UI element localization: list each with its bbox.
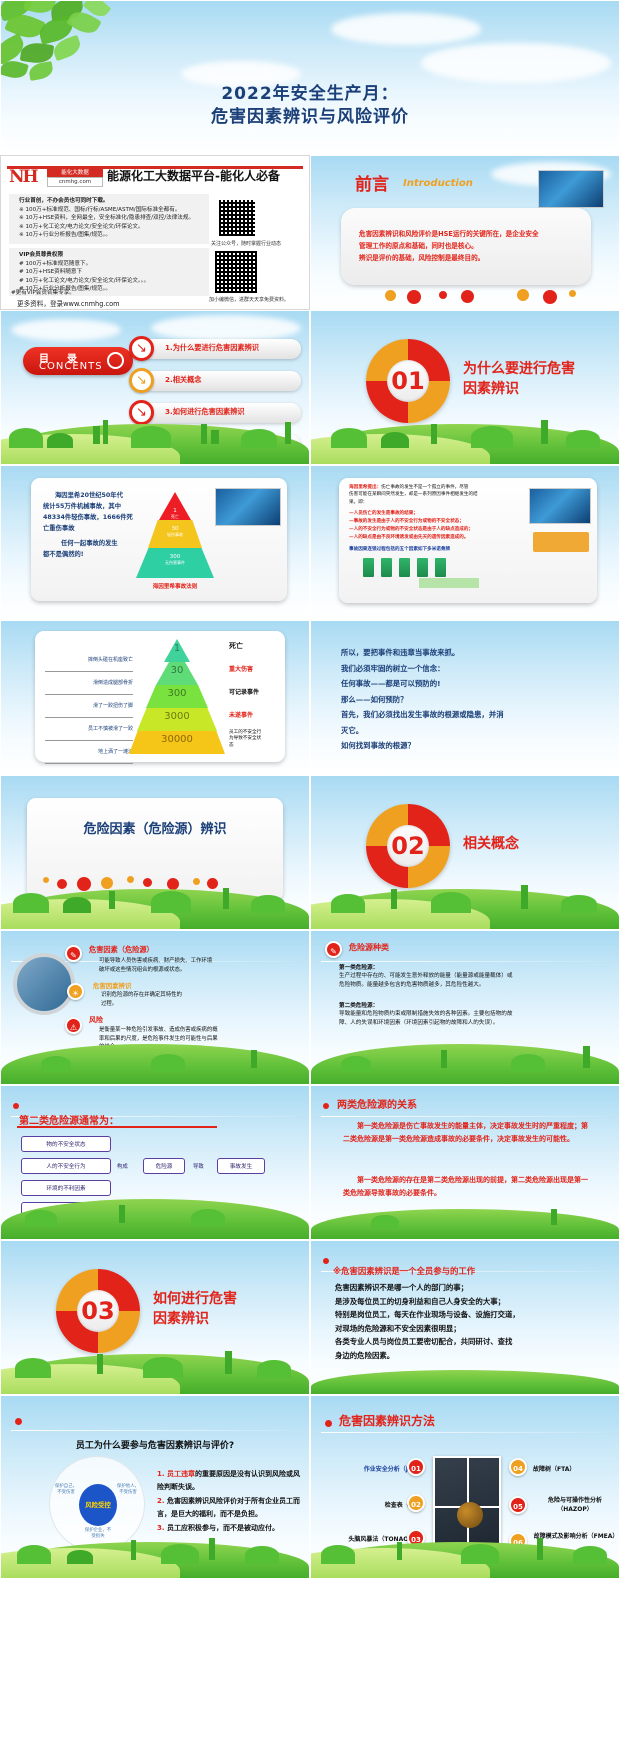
toc-item-2[interactable]: ↘ 2.相关概念 bbox=[141, 371, 301, 391]
para-line: 统计55万件机械事故，其中 bbox=[43, 501, 135, 512]
preface-line: 危害因素辨识和风险评价是HSE运行的关键所在，是企业安全 bbox=[359, 228, 579, 240]
qr-code-public-account[interactable] bbox=[219, 200, 255, 236]
ad-headline: 能源化工大数据平台-能化人必备 bbox=[107, 167, 280, 184]
ad-footer-2: 更多资料，登录www.cnmhg.com bbox=[17, 298, 120, 308]
deck-row-5: 摔倒头碰在机座致亡 滑倒造成腿部骨折 滑了一跤扭伤了脚 员工不慎被滑了一跤 地上… bbox=[0, 620, 620, 775]
line: 危险物质。能量越多包含的危害物质越多，其危险性越大。 bbox=[339, 981, 601, 990]
section-number: 01 bbox=[366, 339, 450, 423]
domino-tile bbox=[435, 558, 446, 577]
slide-identification-methods[interactable]: 危害因素辨识方法 作业安全分析（JSA） 01 检查表（CL） 02 头脑风暴法… bbox=[310, 1395, 620, 1579]
slide-hazard-identification-card[interactable]: 危险因素（危险源）辨识 bbox=[0, 775, 310, 930]
header-divider bbox=[321, 1432, 605, 1433]
deck-row-10: 员工为什么要参与危害因素辨识与评价? 风险受控 保护自己，不受伤害 保护他人，不… bbox=[0, 1395, 620, 1579]
domino-lead: 海因里希提出：伤亡事故的发生不是一个孤立的事件，尽管 伤害可能在某瞬间突然发生，… bbox=[349, 484, 509, 506]
cloud-shape bbox=[331, 13, 481, 45]
lead-rest: 伤亡事故的发生不是一个孤立的事件，尽管 bbox=[381, 485, 468, 490]
slide-heinrich-domino[interactable]: 海因里希提出：伤亡事故的发生不是一个孤立的事件，尽管 伤害可能在某瞬间突然发生，… bbox=[310, 465, 620, 620]
cnmhg-logo-tags: 能化大数据 cnmhg.com bbox=[47, 167, 103, 187]
para-line: 亡重伤事故 bbox=[43, 523, 135, 534]
why-prevent-text: 所以，要把事件和违章当事故来抓。 我们必须牢固的树立一个信念： 任何事故——都是… bbox=[341, 645, 591, 754]
relation-para-1: 第一类危险源是伤亡事故发生的能量主体，决定事故发生时的严重程度；第二类危险源是第… bbox=[343, 1120, 593, 1146]
header-divider bbox=[321, 961, 605, 962]
left-label: 摔倒头碰在机座致亡 bbox=[45, 649, 133, 672]
deck-row-6: 危险因素（危险源）辨识 bbox=[0, 775, 620, 930]
right-label: 死亡 bbox=[229, 641, 291, 664]
qr1-caption: 关注公众号，随时掌握行业动态 bbox=[211, 240, 281, 247]
bullet: —人的不安全行为或物的不安全状态是由于人的缺点造成的； bbox=[349, 526, 519, 534]
arrow-down-icon: ↘ bbox=[129, 368, 154, 393]
ad-block2-item: # 10万+化工论文/电力论文/安全论文/环保论文。。。 bbox=[19, 277, 211, 286]
group2-title: 第二类危险源： bbox=[339, 1001, 378, 1009]
landscape-decoration bbox=[311, 1532, 619, 1578]
landscape-decoration bbox=[1, 1342, 309, 1394]
slide-deck-preview: 2022年安全生产月： 危害因素辨识与风险评价 NH 能化大数据 cnmhg.c… bbox=[0, 0, 620, 1579]
title-line-1: 2022年安全生产月： bbox=[1, 79, 619, 104]
pyr-value: 30000 bbox=[161, 734, 193, 745]
title-bullet-dot bbox=[325, 1420, 332, 1427]
page-title: 危害因素辨识方法 bbox=[339, 1412, 435, 1429]
section-title: 为什么要进行危害 因素辨识 bbox=[463, 359, 575, 399]
petal-label-1: 保护自己，不受伤害 bbox=[53, 1484, 79, 1497]
lead-rest3: 果。即： bbox=[349, 499, 509, 506]
deck-row-2: NH 能化大数据 cnmhg.com 能源化工大数据平台-能化人必备 行业首创，… bbox=[0, 155, 620, 310]
ad-footer-1: #更有VIP会员合集专享。 bbox=[11, 289, 75, 298]
employee-points: 1. 员工违章的重要原因是没有认识到风险或风险判断失误。 2. 危害因素辨识风险… bbox=[157, 1468, 303, 1535]
left-label: 滑倒造成腿部骨折 bbox=[45, 672, 133, 695]
landscape-decoration bbox=[311, 412, 619, 464]
slide-hazard-types[interactable]: ✎ 危险源种类 第一类危险源： 生产过程中存在的、可能发生意外释放的能量（能量源… bbox=[310, 930, 620, 1085]
domino-tile bbox=[417, 558, 428, 577]
para-line: 海因里希20世纪50年代 bbox=[43, 490, 135, 501]
section-number: 03 bbox=[56, 1269, 140, 1353]
domino-tile bbox=[399, 558, 410, 577]
pyramid-caption: 海因里希事故法则 bbox=[153, 582, 198, 590]
cloud-shape bbox=[151, 315, 301, 341]
card-title: 危险因素（危险源）辨识 bbox=[1, 818, 309, 837]
pyramid-level-1: 1 死亡 bbox=[160, 508, 190, 520]
page-title: 第二类危险源通常为： bbox=[19, 1112, 119, 1127]
section-title-line1: 如何进行危害 bbox=[153, 1289, 237, 1309]
ad-block1-item: ※ 10万+HSE资料，全网最全，安全标准化/隐患排查/双控/法律法规。 bbox=[19, 214, 211, 223]
bullet: —人员伤亡的发生是事故的结果； bbox=[349, 510, 519, 518]
ad-block1-item: ※ 10万+化工论文/电力论文/安全论文/环保论文。 bbox=[19, 223, 211, 232]
dot-decoration-row bbox=[311, 277, 619, 301]
ad-block2-item: # 10万+HSE资料随意下 bbox=[19, 268, 211, 277]
safety-pyramid-graphic: 1 30 300 3000 30000 bbox=[129, 639, 225, 757]
group1-title: 第一类危险源： bbox=[339, 963, 378, 971]
slide-section-02[interactable]: 02 相关概念 bbox=[310, 775, 620, 930]
slide-image bbox=[215, 488, 281, 526]
line: 危害因素辨识不是哪一个人的部门的事； bbox=[335, 1281, 607, 1295]
edit-icon: ✎ bbox=[325, 941, 342, 958]
header-divider bbox=[321, 1116, 605, 1117]
landscape-decoration bbox=[311, 1044, 619, 1084]
concept-photo bbox=[13, 953, 75, 1015]
hand-idea-icon: ☀ bbox=[67, 983, 84, 1000]
deck-row-4: 海因里希20世纪50年代 统计55万件机械事故，其中 48334件轻伤事故，16… bbox=[0, 465, 620, 620]
line: 那么——如何预防？ bbox=[341, 692, 591, 708]
left-label: 滑了一跤扭伤了脚 bbox=[45, 695, 133, 718]
right-label: 重大伤害 bbox=[229, 664, 291, 687]
page-title: ※危害因素辨识是一个全员参与的工作 bbox=[333, 1265, 475, 1277]
ad-block1-item: ※ 10万+行业分析报告/图集/规范。。 bbox=[19, 231, 211, 240]
risk-icon: ⚠ bbox=[65, 1017, 82, 1034]
concept-body-2: 识别危险源的存在并确定其特性的 过程。 bbox=[101, 991, 301, 1008]
heinrich-paragraph-2: 任何一起事故的发生 都不是偶然的! bbox=[43, 538, 135, 560]
bullet: —事故的发生是由于人的不安全行为或物的不安全状态； bbox=[349, 518, 519, 526]
landscape-decoration bbox=[311, 1366, 619, 1394]
hazard-box: 人的不安全行为 bbox=[21, 1158, 111, 1174]
landscape-decoration bbox=[1, 1199, 309, 1239]
slide-advertisement[interactable]: NH 能化大数据 cnmhg.com 能源化工大数据平台-能化人必备 行业首创，… bbox=[0, 155, 310, 310]
title-line-2: 危害因素辨识与风险评价 bbox=[1, 102, 619, 127]
deck-row-9: 03 如何进行危害 因素辨识 ※危害因素辨识是一个全员参与的工作 bbox=[0, 1240, 620, 1395]
landscape-decoration bbox=[311, 1205, 619, 1239]
toc-ring-icon bbox=[107, 352, 124, 369]
legend-chip bbox=[533, 532, 589, 552]
page-title: 员工为什么要参与危害因素辨识与评价? bbox=[1, 1438, 309, 1451]
title-bullet-dot bbox=[15, 1418, 22, 1425]
mid-label: 构成 bbox=[117, 1162, 128, 1170]
preface-body-text: 危害因素辨识和风险评价是HSE运行的关键所在，是企业安全 管理工作的原点和基础，… bbox=[359, 228, 579, 264]
toc-item-1[interactable]: ↘ 1.为什么要进行危害因素辨识 bbox=[141, 339, 301, 359]
qr-code-wechat[interactable] bbox=[215, 251, 257, 293]
heinrich-paragraph-1: 海因里希20世纪50年代 统计55万件机械事故，其中 48334件轻伤事故，16… bbox=[43, 490, 135, 534]
leaves-decoration bbox=[0, 0, 145, 85]
slide-employee-participation[interactable]: 员工为什么要参与危害因素辨识与评价? 风险受控 保护自己，不受伤害 保护他人，不… bbox=[0, 1395, 310, 1579]
section-title: 如何进行危害 因素辨识 bbox=[153, 1289, 237, 1329]
group2-body: 导致能量和危险物质约束或限制措施失效的各种因素。主要包括物的故 障、人的失误和环… bbox=[339, 1010, 605, 1028]
toc-badge-en: CONCENTS bbox=[39, 361, 103, 372]
preface-line: 管理工作的原点和基础，同时也是核心。 bbox=[359, 240, 579, 252]
qr2-caption: 加小编微信，进群天天享免费资料。 bbox=[209, 296, 289, 303]
left-label: 地上洒了一滩油 bbox=[45, 741, 133, 764]
hazard-node: 危险源 bbox=[143, 1158, 185, 1174]
pyramid-level-3: 300 无伤害事件 bbox=[144, 554, 206, 566]
header-divider bbox=[11, 1430, 295, 1431]
landscape-decoration bbox=[1, 412, 309, 464]
preface-line: 辨识是评价的基础，风险控制是最终目的。 bbox=[359, 252, 579, 264]
concept-body-1: 可能导致人员伤害或疾病、财产损失、工作环境 破坏或这些情况组合的根源或状态。 bbox=[99, 957, 299, 974]
title-underline bbox=[17, 1126, 217, 1128]
slide-table-of-contents[interactable]: 目 录 CONCENTS ↘ 1.为什么要进行危害因素辨识 ↘ 2.相关概念 ↘… bbox=[0, 310, 310, 465]
point-2: 2. 危害因素辨识风险评价对于所有企业员工而言，是巨大的福利，而不是负担。 bbox=[157, 1495, 303, 1520]
section-title-line1: 为什么要进行危害 bbox=[463, 359, 575, 379]
concept-title-2: 危害因素辨识 bbox=[93, 981, 131, 990]
method-badge-02: 02 bbox=[407, 1494, 425, 1512]
point-1: 1. 员工违章的重要原因是没有认识到风险或风险判断失误。 bbox=[157, 1468, 303, 1493]
domino-caption-bar bbox=[419, 578, 479, 588]
bullet: —人的缺点是由不良环境诱发或由先天的遗传因素造成的。 bbox=[349, 534, 519, 542]
all-staff-body: 危害因素辨识不是哪一个人的部门的事； 是涉及每位员工的切身利益和自己人身安全的大… bbox=[335, 1281, 607, 1363]
line: 所以，要把事件和违章当事故来抓。 bbox=[341, 645, 591, 661]
cloud-shape bbox=[11, 319, 121, 341]
para-line: 48334件轻伤事故，1666件死 bbox=[43, 512, 135, 523]
arrow-down-icon: ↘ bbox=[129, 336, 154, 361]
line: 障、人的失误和环境因素（环境因素引起物的故障和人的失误）。 bbox=[339, 1019, 605, 1028]
para-line: 都不是偶然的! bbox=[43, 549, 135, 560]
toc-item-label: 2.相关概念 bbox=[165, 375, 201, 385]
logo-tag-top: 能化大数据 bbox=[47, 167, 103, 177]
section-title-line1: 相关概念 bbox=[463, 834, 519, 854]
relation-para-2: 第一类危险源的存在是第二类危险源出现的前提，第二类危险源出现是第一类危险源导致事… bbox=[343, 1174, 593, 1200]
preface-subtitle: Introduction bbox=[403, 178, 473, 189]
left-label: 员工不慎被滑了一跤 bbox=[45, 718, 133, 741]
deck-row-3: 目 录 CONCENTS ↘ 1.为什么要进行危害因素辨识 ↘ 2.相关概念 ↘… bbox=[0, 310, 620, 465]
lead-rest2: 伤害可能在某瞬间突然发生，却是一系列原因事件相继发生的结 bbox=[349, 491, 509, 498]
cnmhg-logo: NH bbox=[9, 167, 51, 187]
domino-tile bbox=[381, 558, 392, 577]
slide-section-03[interactable]: 03 如何进行危害 因素辨识 bbox=[0, 1240, 310, 1395]
line: 识别危险源的存在并确定其特性的 bbox=[101, 991, 301, 1000]
line: 任何事故——都是可以预防的! bbox=[341, 676, 591, 692]
line: 灭它。 bbox=[341, 723, 591, 739]
pyramid-left-labels: 摔倒头碰在机座致亡 滑倒造成腿部骨折 滑了一跤扭伤了脚 员工不慎被滑了一跤 地上… bbox=[45, 649, 133, 764]
hazard-box: 物的不安全状态 bbox=[21, 1136, 111, 1152]
slide-safety-pyramid[interactable]: 摔倒头碰在机座致亡 滑倒造成腿部骨折 滑了一跤扭伤了脚 员工不慎被滑了一跤 地上… bbox=[0, 620, 310, 775]
slide-title[interactable]: 2022年安全生产月： 危害因素辨识与风险评价 bbox=[0, 0, 620, 155]
ad-block1-title: 行业首创，不办会员也可同时下载。 bbox=[19, 197, 211, 206]
pyr-value: 1 bbox=[174, 643, 180, 654]
right-label: 员工的不安全行为导致不安全状态 bbox=[229, 730, 263, 749]
line: 身边的危险因素。 bbox=[335, 1349, 607, 1363]
diagram-center-label: 风险受控 bbox=[79, 1484, 117, 1526]
toc-badge: 目 录 CONCENTS bbox=[23, 347, 133, 375]
slide-section-01[interactable]: 01 为什么要进行危害 因素辨识 bbox=[310, 310, 620, 465]
para-line: 任何一起事故的发生 bbox=[43, 538, 135, 549]
slide-all-staff-participation[interactable]: ※危害因素辨识是一个全员参与的工作 危害因素辨识不是哪一个人的部门的事； 是涉及… bbox=[310, 1240, 620, 1395]
ad-block1-item: ※ 100万+标准规范、国标/行标/ASME/ASTM/国际标准全都有。 bbox=[19, 206, 211, 215]
right-label: 未遂事件 bbox=[229, 710, 291, 730]
line: 如何找到事故的根源？ bbox=[341, 738, 591, 754]
method-label-05: 危险与可操作性分析（HAZOP） bbox=[533, 1496, 617, 1514]
slide-why-prevent[interactable]: 所以，要把事件和违章当事故来抓。 我们必须牢固的树立一个信念： 任何事故——都是… bbox=[310, 620, 620, 775]
line: 过程。 bbox=[101, 1000, 301, 1009]
line: 破坏或这些情况组合的根源或状态。 bbox=[99, 966, 299, 975]
landscape-decoration bbox=[1, 1532, 309, 1578]
slide-concepts[interactable]: ✎ 危害因素（危险源） 可能导致人员伤害或疾病、财产损失、工作环境 破坏或这些情… bbox=[0, 930, 310, 1085]
deck-row-7: ✎ 危害因素（危险源） 可能导致人员伤害或疾病、财产损失、工作环境 破坏或这些情… bbox=[0, 930, 620, 1085]
line: 生产过程中存在的、可能发生意外释放的能量（能量源或能量载体）或 bbox=[339, 972, 601, 981]
section-number: 02 bbox=[366, 804, 450, 888]
page-title: 危险源种类 bbox=[349, 942, 389, 953]
slide-preface[interactable]: 前言 Introduction 危害因素辨识和风险评价是HSE运行的关键所在，是… bbox=[310, 155, 620, 310]
slide-second-hazard-source[interactable]: 第二类危险源通常为： 物的不安全状态 人的不安全行为 环境的不利因素 管理的薄弱… bbox=[0, 1085, 310, 1240]
section-title-line2: 因素辨识 bbox=[153, 1309, 237, 1329]
toc-item-label: 1.为什么要进行危害因素辨识 bbox=[165, 343, 259, 353]
section-title: 相关概念 bbox=[463, 834, 519, 854]
method-label-04: 故障树（FTA） bbox=[533, 1464, 617, 1473]
slide-heinrich-statistics[interactable]: 海因里希20世纪50年代 统计55万件机械事故，其中 48334件轻伤事故，16… bbox=[0, 465, 310, 620]
preface-title: 前言 bbox=[355, 170, 389, 195]
method-badge-01: 01 bbox=[407, 1458, 425, 1476]
line: 对现场的危险源和不安全因素很明显； bbox=[335, 1322, 607, 1336]
method-badge-05: 05 bbox=[509, 1496, 527, 1514]
domino-bullets: —人员伤亡的发生是事故的结果； —事故的发生是由于人的不安全行为或物的不安全状态… bbox=[349, 510, 519, 542]
domino-footer: 事故因果连锁过程包括的五个因素如下多米诺骨牌 bbox=[349, 546, 450, 552]
preface-image bbox=[538, 170, 604, 208]
right-label: 可记录事件 bbox=[229, 687, 291, 710]
logo-tag-bottom: cnmhg.com bbox=[47, 177, 103, 187]
section-title-line2: 因素辨识 bbox=[463, 379, 575, 399]
ad-block2-title: VIP会员尊贵权限 bbox=[19, 251, 211, 260]
line: 我们必须牢固的树立一个信念： bbox=[341, 661, 591, 677]
deck-row-8: 第二类危险源通常为： 物的不安全状态 人的不安全行为 环境的不利因素 管理的薄弱… bbox=[0, 1085, 620, 1240]
deck-row-1: 2022年安全生产月： 危害因素辨识与风险评价 bbox=[0, 0, 620, 155]
ad-block2-item: # 100万+标准规范随意下。 bbox=[19, 260, 211, 269]
hazard-box: 环境的不利因素 bbox=[21, 1180, 111, 1196]
title-bullet-dot bbox=[13, 1103, 19, 1109]
line: 是衡量某一种危险引发事故、造成伤害或疾病的概 bbox=[99, 1026, 299, 1035]
method-badge-04: 04 bbox=[509, 1458, 527, 1476]
landscape-decoration bbox=[1, 1044, 309, 1084]
pyramid-level-2: 30 轻伤事故 bbox=[153, 526, 197, 538]
title-bullet-dot bbox=[323, 1103, 329, 1109]
concept-title-3: 风险 bbox=[89, 1015, 103, 1025]
domino-tile bbox=[363, 558, 374, 577]
slide-hazard-relation[interactable]: 两类危险源的关系 第一类危险源是伤亡事故发生的能量主体，决定事故发生时的严重程度… bbox=[310, 1085, 620, 1240]
arrow-label: 导致 bbox=[193, 1162, 204, 1170]
heinrich-pyramid: 1 死亡 30 轻伤事故 300 无伤害事件 海因里希事故法则 bbox=[139, 492, 211, 584]
line: 可能导致人员伤害或疾病、财产损失、工作环境 bbox=[99, 957, 299, 966]
pyr-value: 30 bbox=[171, 665, 184, 676]
line: 特别是岗位员工，每天在作业现场与设备、设施打交道， bbox=[335, 1308, 607, 1322]
line: 导致能量和危险物质约束或限制措施失效的各种因素。主要包括物的故 bbox=[339, 1010, 605, 1019]
slide-image bbox=[529, 488, 591, 524]
title-bullet-dot bbox=[323, 1258, 329, 1264]
page-title: 两类危险源的关系 bbox=[337, 1096, 417, 1111]
lead-red: 海因里希提出： bbox=[349, 485, 381, 490]
line: 是涉及每位员工的切身利益和自己人身安全的大事； bbox=[335, 1295, 607, 1309]
cloud-shape bbox=[421, 43, 611, 83]
landscape-decoration bbox=[1, 877, 309, 929]
edit-icon: ✎ bbox=[65, 945, 82, 962]
concept-title-1: 危害因素（危险源） bbox=[89, 945, 154, 955]
line: 各类专业人员与岗位员工要密切配合，共同研讨、查找 bbox=[335, 1335, 607, 1349]
hazard-end: 事故发生 bbox=[217, 1158, 265, 1174]
pyr-value: 300 bbox=[167, 688, 186, 699]
petal-label-2: 保护他人，不受伤害 bbox=[115, 1484, 141, 1497]
pyramid-right-labels: 死亡 重大伤害 可记录事件 未遂事件 员工的不安全行为导致不安全状态 bbox=[229, 641, 291, 749]
group1-body: 生产过程中存在的、可能发生意外释放的能量（能量源或能量载体）或 危险物质。能量越… bbox=[339, 972, 601, 990]
pyr-value: 3000 bbox=[164, 711, 189, 722]
landscape-decoration bbox=[311, 877, 619, 929]
domino-row bbox=[363, 558, 446, 577]
line: 首先，我们必须找出发生事故的根源或隐患，并消 bbox=[341, 707, 591, 723]
